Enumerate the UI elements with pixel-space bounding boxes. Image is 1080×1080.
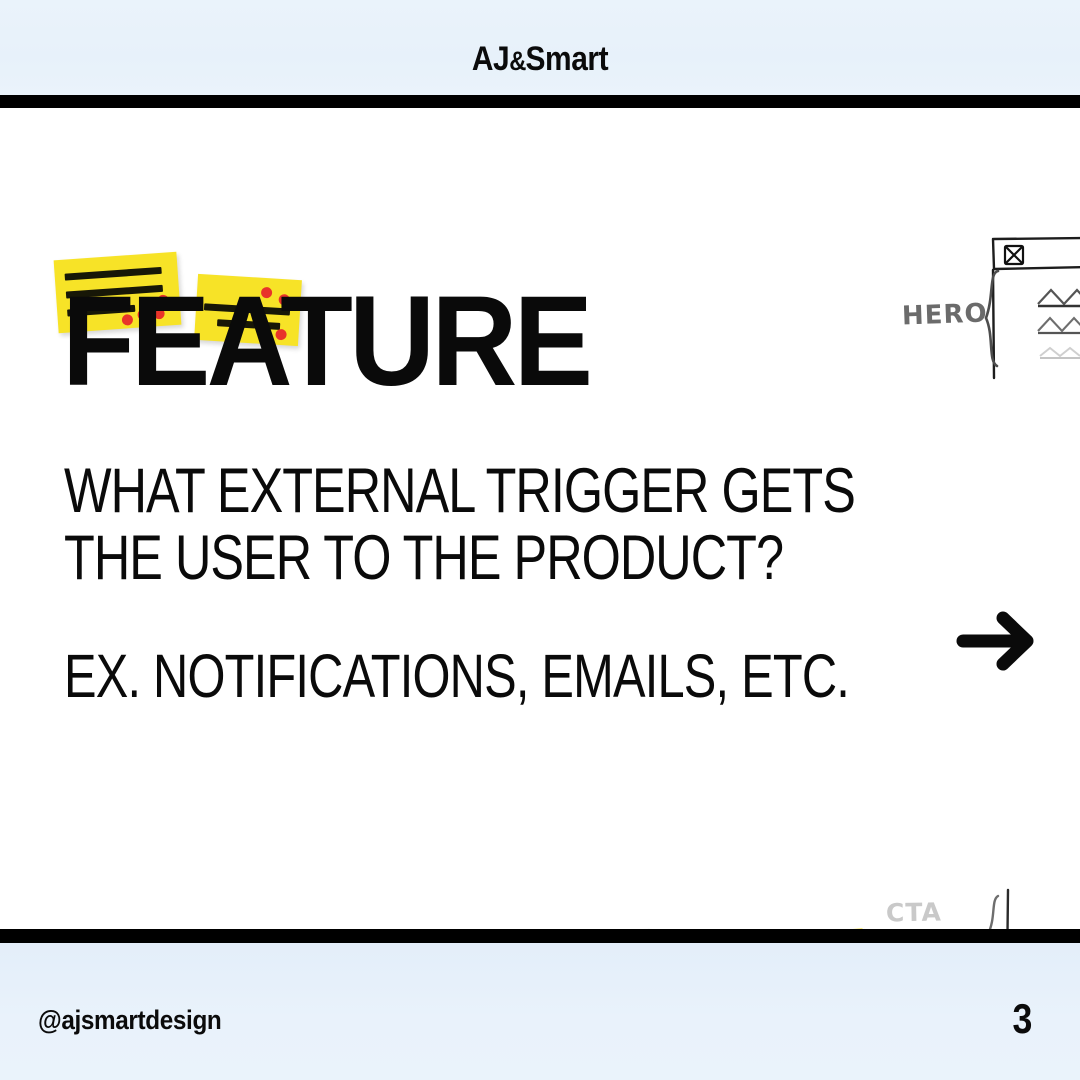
- divider-rule-bottom: [0, 929, 1080, 943]
- page-number: 3: [1012, 995, 1032, 1043]
- brand-logo: AJ&Smart: [65, 40, 1015, 79]
- divider-rule-top: [0, 95, 1080, 108]
- cta-sketch-label: CTA: [886, 898, 942, 928]
- page-title: FEATURE: [62, 278, 589, 406]
- slide-canvas: HERO CTA FOOTER FEATURE: [0, 108, 1080, 929]
- brand-ampersand: &: [509, 46, 525, 76]
- cta-brace-icon: [988, 896, 999, 929]
- brand-prefix: AJ: [472, 40, 509, 78]
- example-text: EX. NOTIFICATIONS, EMAILS, ETC.: [64, 644, 849, 708]
- question-text: WHAT EXTERNAL TRIGGER GETS THE USER TO T…: [64, 458, 855, 592]
- hero-sketch-label: HERO: [902, 299, 989, 332]
- brand-suffix: Smart: [526, 40, 609, 78]
- slide-root: AJ&Smart: [0, 0, 1080, 1080]
- social-handle[interactable]: @ajsmartdesign: [38, 1005, 221, 1036]
- x-in-box-logo-icon: [1005, 246, 1023, 264]
- zigzag-placeholder-icon: [1038, 290, 1080, 358]
- arrow-right-icon[interactable]: [955, 608, 1041, 674]
